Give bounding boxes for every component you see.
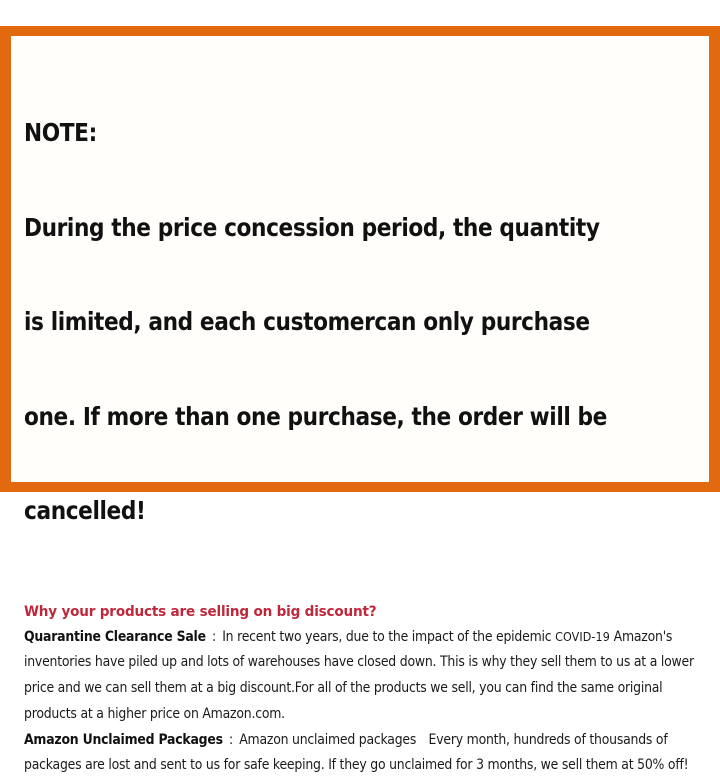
promo-notice-page: NOTE: During the price concession period… (0, 0, 720, 514)
headline-line-1: NOTE: (24, 117, 697, 149)
paragraph-quarantine-clearance-sale: Quarantine Clearance Sale:In recent two … (24, 624, 697, 728)
headline-line-5: cancelled! (24, 495, 697, 527)
paragraph-amazon-unclaimed-packages: Amazon Unclaimed Packages:Amazon unclaim… (24, 728, 697, 779)
notice-headline: NOTE: During the price concession period… (24, 54, 697, 590)
headline-line-2: During the price concession period, the … (24, 212, 697, 244)
notice-box: NOTE: During the price concession period… (0, 26, 720, 492)
paragraph-label-unclaimed: Amazon Unclaimed Packages (24, 732, 223, 748)
paragraph-text-quarantine-pre: In recent two years, due to the impact o… (222, 629, 555, 645)
paragraph-label-quarantine: Quarantine Clearance Sale (24, 629, 206, 645)
paragraph-colon-quarantine: : (212, 629, 216, 645)
covid-acronym: COVID-19 (555, 629, 610, 644)
paragraph-text-unclaimed-pre: Amazon unclaimed packages (239, 732, 416, 748)
headline-line-3: is limited, and each customercan only pu… (24, 306, 697, 338)
notice-box-inner: NOTE: During the price concession period… (11, 36, 709, 482)
notice-body: Quarantine Clearance Sale:In recent two … (24, 624, 697, 779)
paragraph-colon-unclaimed: : (229, 732, 233, 748)
discount-question-heading: Why your products are selling on big dis… (24, 602, 694, 622)
headline-line-4: one. If more than one purchase, the orde… (24, 401, 697, 433)
